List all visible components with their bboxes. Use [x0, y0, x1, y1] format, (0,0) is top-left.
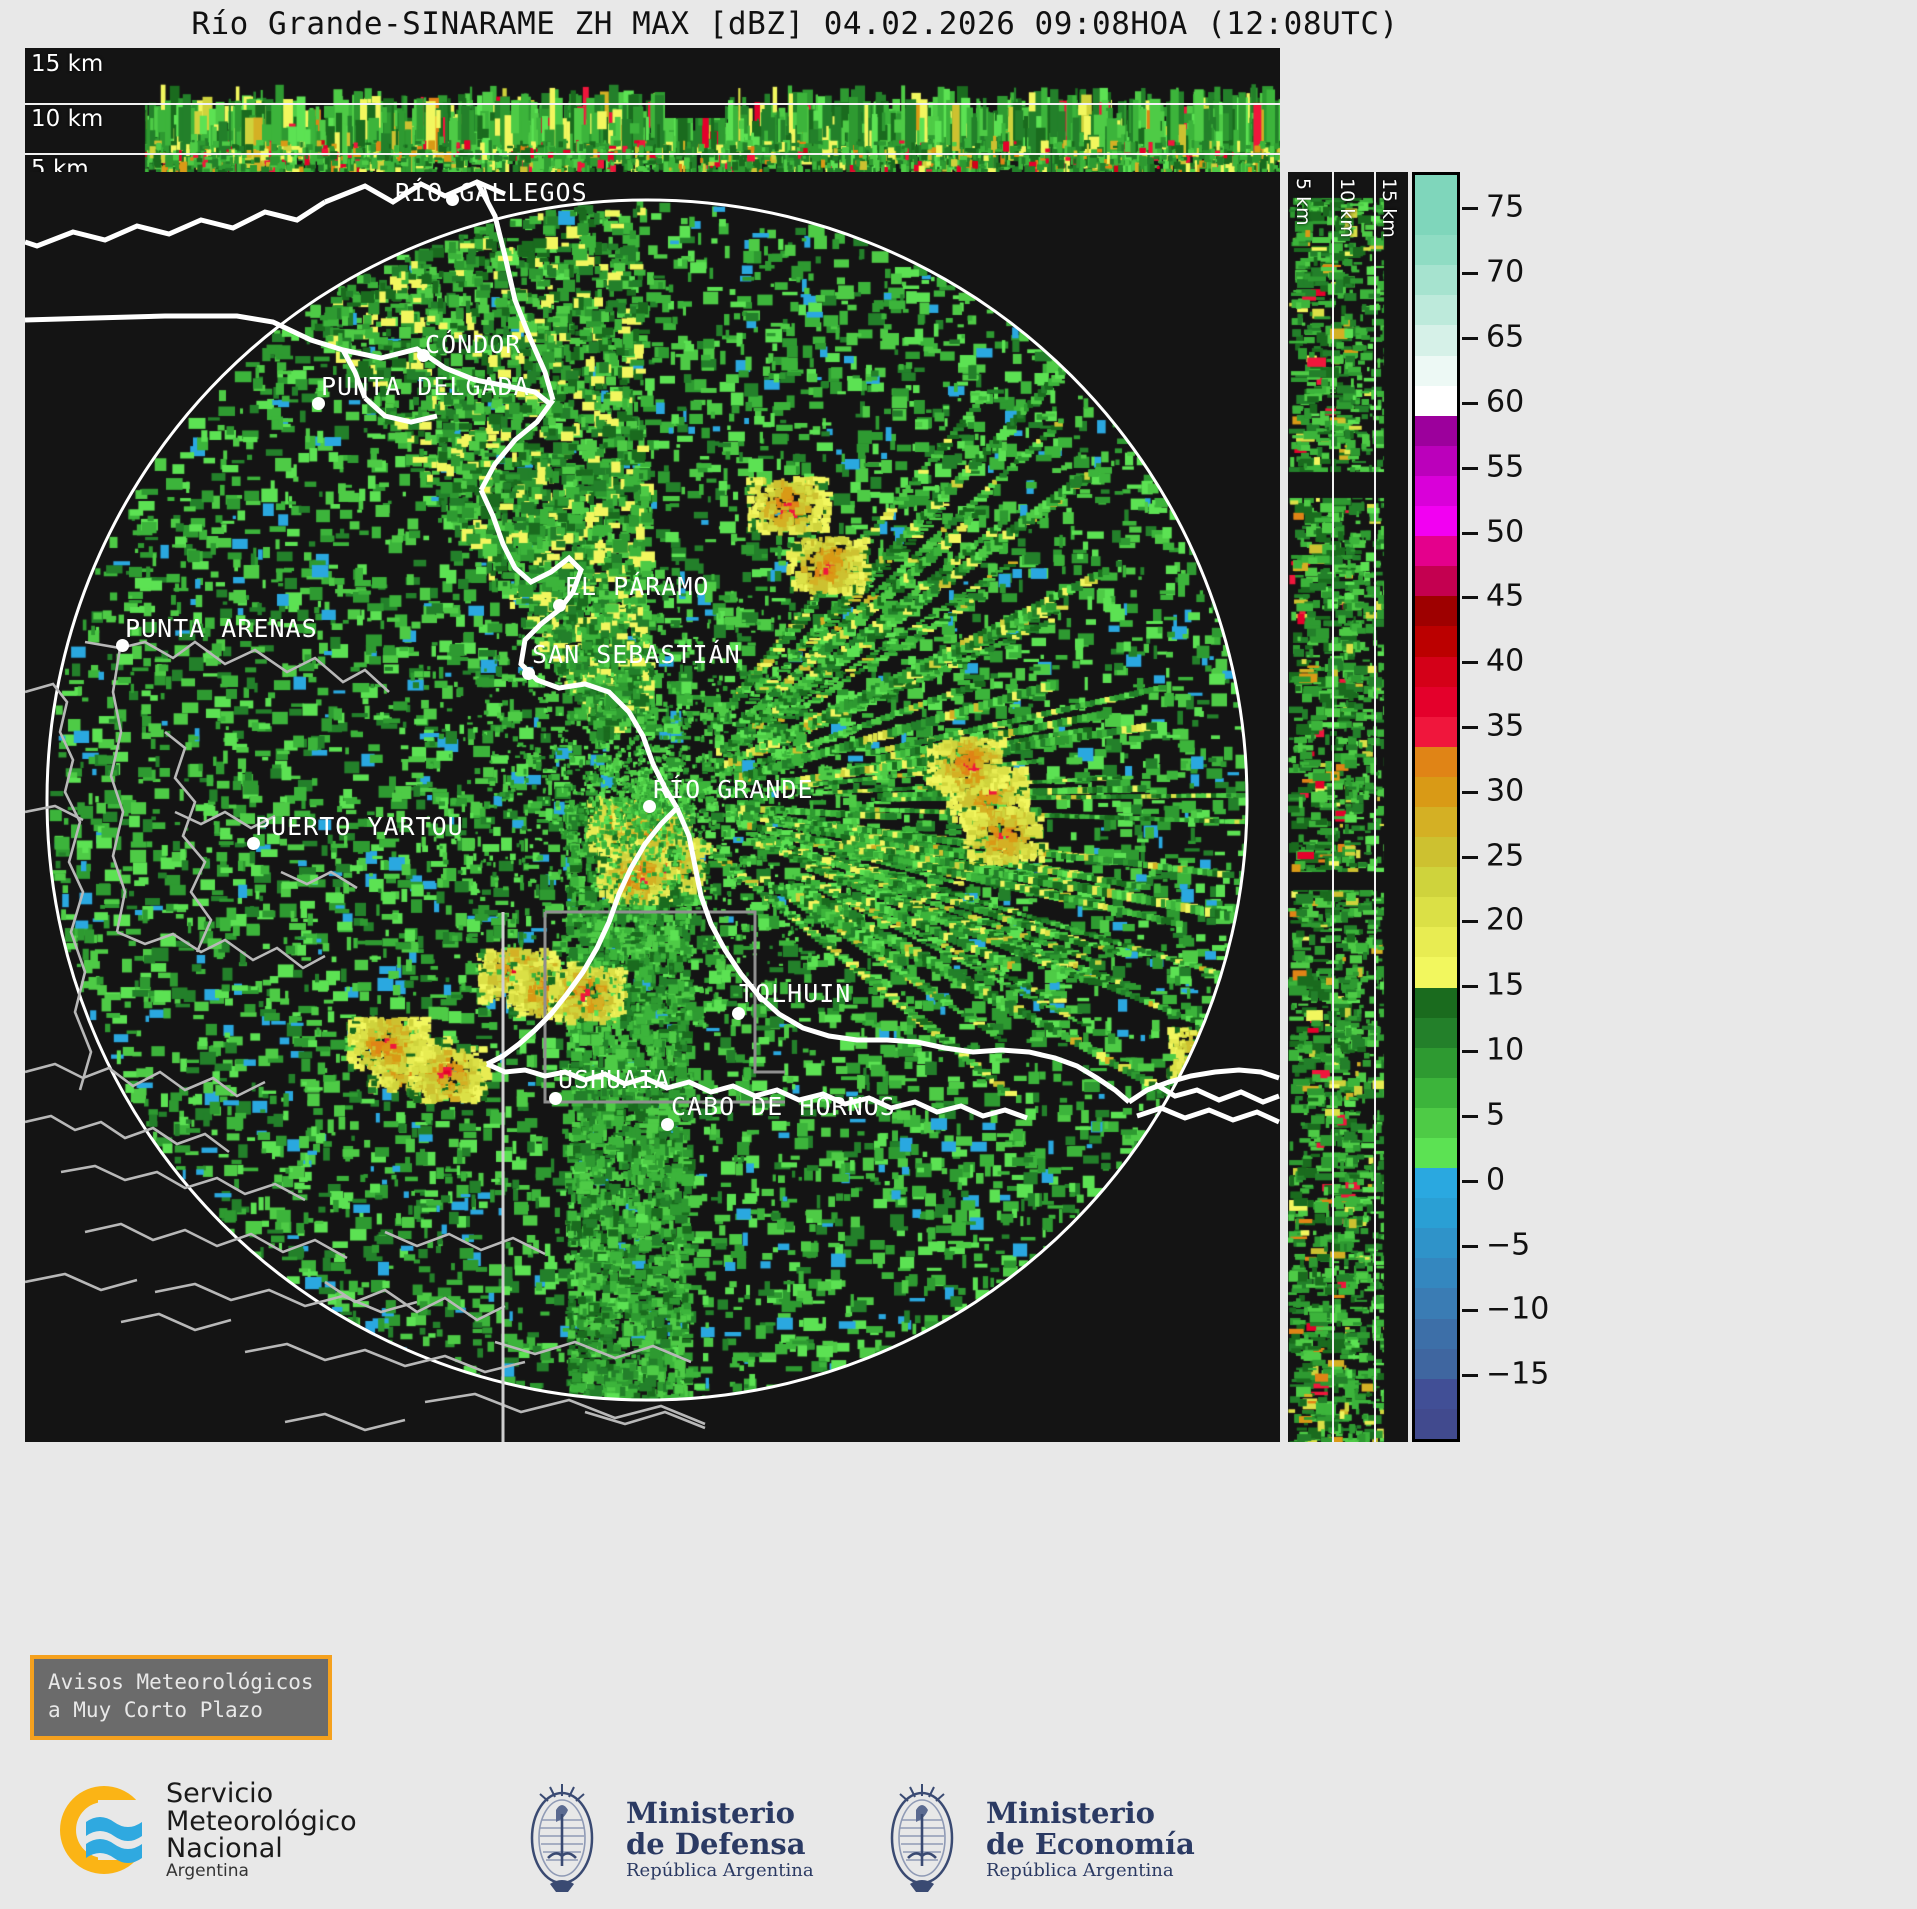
colorbar-segment — [1415, 1108, 1457, 1138]
colorbar-segment — [1415, 1168, 1457, 1198]
colorbar-segment — [1415, 386, 1457, 416]
colorbar-tick-label: 45 — [1486, 579, 1524, 614]
colorbar-segment — [1415, 295, 1457, 325]
colorbar-tick-label: 35 — [1486, 708, 1524, 743]
altitude-gridline-5km — [25, 153, 1280, 155]
colorbar-segment — [1415, 1138, 1457, 1168]
colorbar-segment — [1415, 566, 1457, 596]
colorbar-segment — [1415, 626, 1457, 656]
colorbar-tick-label: 5 — [1486, 1097, 1505, 1132]
economia-wordmark: Ministerio de Economía República Argenti… — [986, 1798, 1195, 1880]
colorbar-tick-label: 75 — [1486, 190, 1524, 225]
colorbar-segment — [1415, 867, 1457, 897]
colorbar-tick — [1462, 467, 1478, 470]
colorbar-segment — [1415, 1048, 1457, 1078]
colorbar-tick — [1462, 596, 1478, 599]
altitude-label-5km-right: 5 km — [1292, 178, 1314, 226]
colorbar-segment — [1415, 1258, 1457, 1288]
dbz-colorbar-ticks: 757065605550454035302520151050−5−10−15 — [1462, 172, 1612, 1442]
colorbar-tick — [1462, 402, 1478, 405]
economia-line-2: de Economía — [986, 1829, 1195, 1860]
colorbar-tick — [1462, 337, 1478, 340]
colorbar-tick — [1462, 272, 1478, 275]
colorbar-tick-label: 65 — [1486, 320, 1524, 355]
logo-ministerio-economia: Ministerio de Economía República Argenti… — [872, 1780, 1195, 1898]
altitude-gridline-15km-right — [1374, 172, 1376, 1442]
colorbar-segment — [1415, 1228, 1457, 1258]
colorbar-segment — [1415, 807, 1457, 837]
city-marker-dot[interactable] — [732, 1007, 745, 1020]
colorbar-segment — [1415, 506, 1457, 536]
colorbar-tick — [1462, 726, 1478, 729]
coastline-grey — [25, 642, 785, 1442]
cross-section-right-panel: 5 km 10 km 15 km — [1288, 172, 1408, 1442]
footer-logos: Servicio Meteorológico Nacional Argentin… — [0, 1770, 1917, 1909]
colorbar-segment — [1415, 325, 1457, 355]
colorbar-segment — [1415, 1409, 1457, 1439]
argentina-coat-of-arms-icon-2 — [872, 1780, 972, 1898]
city-label: TOLHUIN — [739, 979, 851, 1008]
colorbar-segment — [1415, 205, 1457, 235]
defensa-line-2: de Defensa — [626, 1829, 814, 1860]
smn-line-1: Servicio — [166, 1780, 357, 1808]
colorbar-segment — [1415, 1379, 1457, 1409]
page-title: Río Grande-SINARAME ZH MAX [dBZ] 04.02.2… — [0, 6, 1590, 42]
colorbar-segment — [1415, 416, 1457, 446]
colorbar-tick — [1462, 791, 1478, 794]
altitude-label-5km: 5 km — [31, 156, 89, 172]
colorbar-tick — [1462, 1180, 1478, 1183]
altitude-gridline-10km — [25, 103, 1280, 105]
smn-line-2: Meteorológico — [166, 1808, 357, 1836]
city-label: PUNTA ARENAS — [125, 614, 318, 643]
colorbar-tick — [1462, 856, 1478, 859]
colorbar-tick — [1462, 1374, 1478, 1377]
defensa-wordmark: Ministerio de Defensa República Argentin… — [626, 1798, 814, 1880]
colorbar-tick-label: 25 — [1486, 838, 1524, 873]
colorbar-tick-label: 70 — [1486, 255, 1524, 290]
economia-line-1: Ministerio — [986, 1798, 1195, 1829]
colorbar-segment — [1415, 777, 1457, 807]
colorbar-tick — [1462, 920, 1478, 923]
altitude-label-15km: 15 km — [31, 51, 103, 77]
smn-mark-icon — [52, 1778, 156, 1882]
colorbar-segment — [1415, 717, 1457, 747]
colorbar-tick-label: 20 — [1486, 903, 1524, 938]
colorbar-segment — [1415, 657, 1457, 687]
colorbar-segment — [1415, 1288, 1457, 1318]
colorbar-tick-label: −10 — [1486, 1292, 1549, 1327]
nowcast-warning-box[interactable]: Avisos Meteorológicos a Muy Corto Plazo — [30, 1655, 332, 1740]
logo-smn: Servicio Meteorológico Nacional Argentin… — [52, 1778, 357, 1882]
colorbar-segment — [1415, 927, 1457, 957]
colorbar-tick-label: 60 — [1486, 384, 1524, 419]
city-label: RÍO GALLEGOS — [395, 178, 588, 207]
colorbar-segment — [1415, 1319, 1457, 1349]
colorbar-tick-label: 55 — [1486, 449, 1524, 484]
colorbar-segment — [1415, 265, 1457, 295]
smn-wordmark: Servicio Meteorológico Nacional Argentin… — [166, 1780, 357, 1880]
colorbar-tick — [1462, 532, 1478, 535]
colorbar-segment — [1415, 536, 1457, 566]
smn-line-4: Argentina — [166, 1863, 357, 1880]
city-label: CABO DE HORNOS — [671, 1092, 896, 1121]
city-label: RÍO GRANDE — [653, 775, 814, 804]
city-label: PUNTA DELGADA — [321, 372, 530, 401]
colorbar-segment — [1415, 175, 1457, 205]
colorbar-tick-label: −15 — [1486, 1357, 1549, 1392]
city-label: PUERTO YARTOU — [255, 812, 464, 841]
colorbar-tick — [1462, 1115, 1478, 1118]
colorbar-segment — [1415, 596, 1457, 626]
colorbar-segment — [1415, 1078, 1457, 1108]
colorbar-segment — [1415, 476, 1457, 506]
colorbar-segment — [1415, 235, 1457, 265]
colorbar-segment — [1415, 837, 1457, 867]
colorbar-tick — [1462, 1309, 1478, 1312]
city-label: EL PÁRAMO — [565, 572, 709, 601]
cross-section-top-panel: 15 km 10 km 5 km — [25, 48, 1280, 172]
colorbar-tick — [1462, 985, 1478, 988]
argentina-coat-of-arms-icon — [512, 1780, 612, 1898]
altitude-gridline-10km-right — [1332, 172, 1334, 1442]
colorbar-tick-label: 15 — [1486, 968, 1524, 1003]
colorbar-tick — [1462, 207, 1478, 210]
colorbar-segment — [1415, 1349, 1457, 1379]
colorbar-tick-label: −5 — [1486, 1227, 1530, 1262]
altitude-label-15km-right: 15 km — [1378, 178, 1400, 238]
radar-ppi-map[interactable]: RÍO GALLEGOSCÓNDORPUNTA DELGADAEL PÁRAMO… — [25, 172, 1280, 1442]
warning-line-2: a Muy Corto Plazo — [48, 1696, 314, 1724]
colorbar-tick-label: 0 — [1486, 1162, 1505, 1197]
colorbar-segment — [1415, 1018, 1457, 1048]
city-label: SAN SEBASTIÁN — [532, 640, 741, 669]
altitude-label-10km: 10 km — [31, 106, 103, 132]
colorbar-segment — [1415, 356, 1457, 386]
colorbar-segment — [1415, 1198, 1457, 1228]
altitude-label-10km-right: 10 km — [1336, 178, 1358, 238]
economia-line-3: República Argentina — [986, 1861, 1195, 1880]
colorbar-segment — [1415, 747, 1457, 777]
colorbar-tick — [1462, 661, 1478, 664]
colorbar-segment — [1415, 957, 1457, 987]
defensa-line-3: República Argentina — [626, 1861, 814, 1880]
smn-line-3: Nacional — [166, 1835, 357, 1863]
colorbar-tick — [1462, 1245, 1478, 1248]
colorbar-segment — [1415, 897, 1457, 927]
city-label: USHUAIA — [558, 1065, 670, 1094]
defensa-line-1: Ministerio — [626, 1798, 814, 1829]
dbz-colorbar — [1412, 172, 1460, 1442]
colorbar-tick-label: 40 — [1486, 644, 1524, 679]
colorbar-tick-label: 50 — [1486, 514, 1524, 549]
colorbar-tick-label: 30 — [1486, 773, 1524, 808]
city-label: CÓNDOR — [425, 330, 521, 359]
logo-ministerio-defensa: Ministerio de Defensa República Argentin… — [512, 1780, 814, 1898]
colorbar-tick-label: 10 — [1486, 1033, 1524, 1068]
colorbar-segment — [1415, 687, 1457, 717]
colorbar-segment — [1415, 446, 1457, 476]
colorbar-segment — [1415, 988, 1457, 1018]
colorbar-tick — [1462, 1050, 1478, 1053]
warning-line-1: Avisos Meteorológicos — [48, 1668, 314, 1696]
